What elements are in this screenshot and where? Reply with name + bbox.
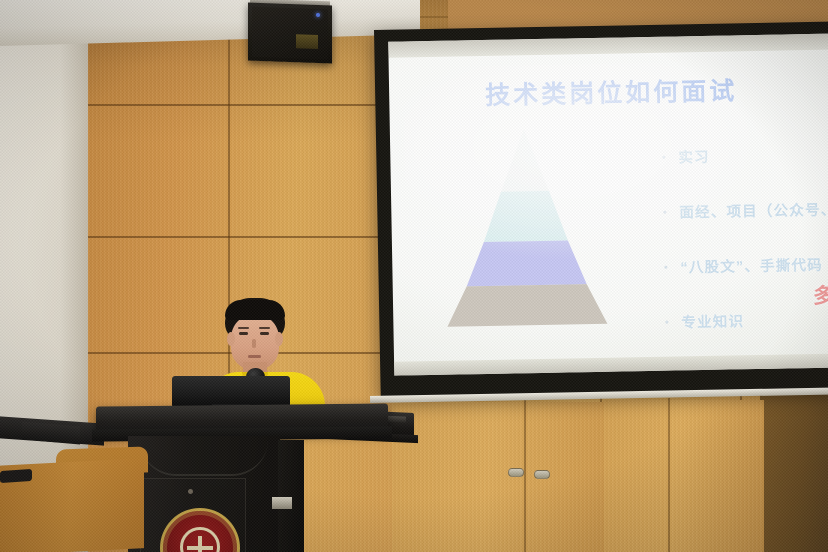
cabinet-grain-right: [604, 400, 764, 552]
presenter-mouth: [248, 355, 261, 358]
list-item: 实习: [662, 142, 828, 168]
cabinet-grain-left: [392, 402, 604, 552]
lectern-panel-knob[interactable]: [188, 489, 193, 494]
ceiling-speaker: [248, 3, 332, 64]
bullet-dot-icon: [665, 321, 668, 324]
presenter-ear-left: [227, 332, 235, 346]
bullet-text: “八股文”、手撕代码: [680, 254, 823, 278]
presenter-eye-right: [260, 332, 269, 335]
lectern-body-side: [278, 440, 304, 552]
lectern-port-plate: [272, 497, 292, 509]
pyramid-tier-2: [483, 190, 568, 242]
pyramid-tier-3: [466, 240, 587, 286]
lectern-arc-detail: [140, 440, 268, 476]
seal-glyph-vertical: [198, 536, 202, 552]
bullet-dot-icon: [663, 211, 666, 214]
cabinet-door-right[interactable]: [604, 400, 764, 552]
bullet-text: 面经、项目（公众号、知: [679, 198, 828, 222]
cabinet-handle-left[interactable]: [508, 468, 524, 477]
pyramid-tier-1-top: [500, 129, 549, 192]
list-item: 面经、项目（公众号、知: [663, 197, 828, 223]
presenter-eyebrow-left: [238, 327, 249, 329]
pyramid-diagram: [432, 128, 620, 329]
slide-bullet-list: 实习 面经、项目（公众号、知 “八股文”、手撕代码 专业知识: [662, 142, 828, 362]
presenter-eye-left: [239, 332, 248, 335]
pyramid-svg: [432, 128, 620, 329]
projection-screen-frame: 技术类岗位如何面试 实习 面经、项目（公众号、知: [374, 22, 828, 398]
slide-red-note: 多扌: [813, 279, 828, 310]
slide-title: 技术类岗位如何面试: [389, 70, 828, 114]
speaker-power-led-icon: [316, 13, 320, 17]
cabinet-door-left[interactable]: [392, 402, 604, 552]
presenter-ear-right: [275, 332, 283, 346]
presentation-slide: 技术类岗位如何面试 实习 面经、项目（公众号、知: [388, 47, 828, 361]
cabinet-seam-1: [524, 400, 526, 552]
bullet-text: 实习: [678, 146, 710, 168]
pyramid-tier-4-bottom: [447, 284, 608, 327]
presenter-nose: [252, 339, 256, 348]
cabinet-handle-right[interactable]: [534, 470, 550, 479]
foreground-dark-object: [0, 469, 32, 483]
list-item: 专业知识: [665, 307, 828, 333]
list-item: “八股文”、手撕代码: [664, 252, 828, 278]
presenter-hair-fringe: [225, 300, 285, 320]
lecture-hall-scene: 技术类岗位如何面试 实习 面经、项目（公众号、知: [0, 0, 828, 552]
bullet-text: 专业知识: [681, 310, 744, 332]
bullet-dot-icon: [664, 266, 667, 269]
cabinet-seam-2: [668, 398, 670, 552]
bullet-dot-icon: [662, 156, 665, 159]
presenter-eyebrow-right: [259, 327, 270, 329]
speaker-brand-badge: [296, 34, 318, 49]
